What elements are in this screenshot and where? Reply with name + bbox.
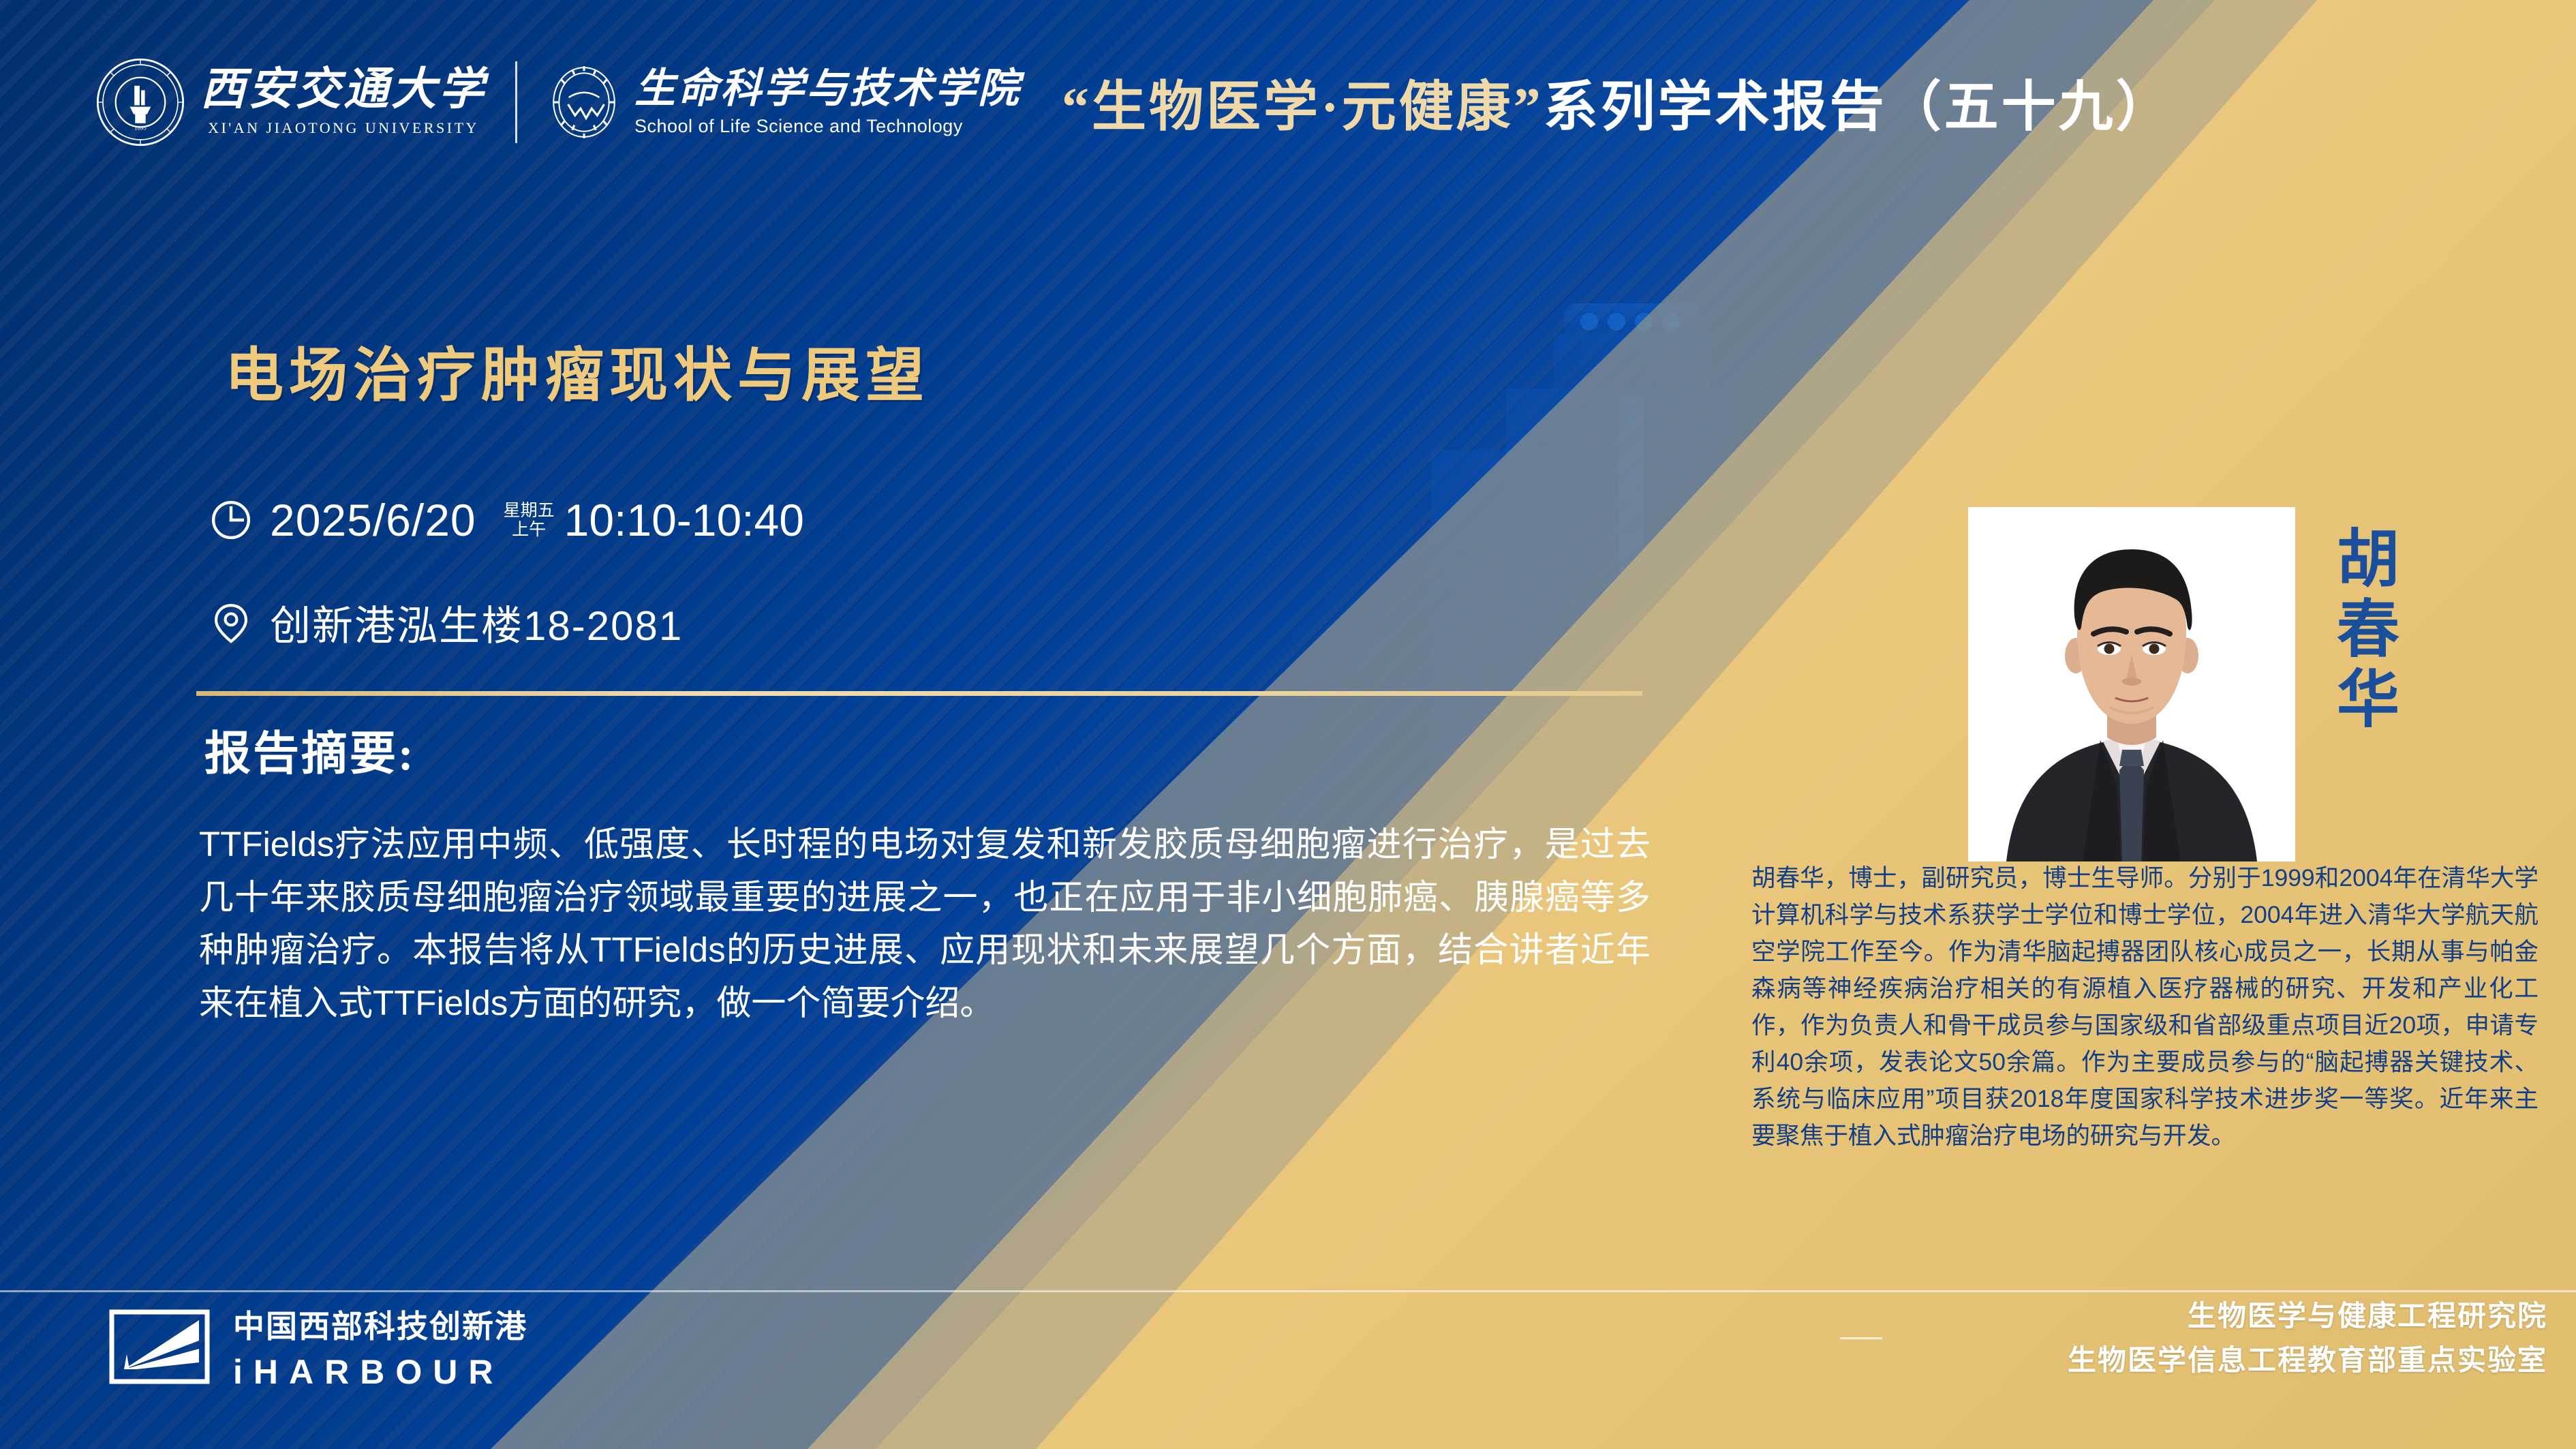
clock-icon	[210, 499, 252, 541]
series-title-white: 系列学术报告（五十九）	[1544, 78, 2173, 138]
xjtu-seal-icon: 1895	[95, 57, 185, 147]
speaker-bio: 胡春华，博士，副研究员，博士生导师。分别于1999和2004年在清华大学计算机科…	[1751, 860, 2539, 1155]
logo-divider	[515, 61, 517, 143]
talk-weekday: 星期五	[504, 501, 555, 520]
gold-divider-rule	[196, 691, 1642, 696]
poster-header: 1895 西安交通大学 XI'AN JIAOTONG UNIVERSITY	[0, 0, 2576, 204]
talk-time-row: 2025/6/20 星期五 上午 10:10-10:40	[210, 494, 804, 546]
speaker-portrait-image	[1980, 513, 2283, 861]
abstract-body: TTFields疗法应用中频、低强度、长时程的电场对复发和新发胶质母细胞瘤进行治…	[199, 818, 1651, 1029]
iharbour-mark-icon	[109, 1309, 210, 1384]
talk-location-row: 创新港泓生楼18-2081	[210, 593, 683, 652]
iharbour-name-cn: 中国西部科技创新港	[233, 1302, 527, 1347]
location-pin-icon	[210, 602, 252, 644]
abstract-heading: 报告摘要:	[204, 716, 416, 783]
school-name-block: 生命科学与技术学院 School of Life Science and Tec…	[634, 68, 1021, 137]
organizer-line-1: 生物医学与健康工程研究院	[2068, 1295, 2547, 1339]
school-seal-icon	[546, 64, 622, 140]
organizer-line-2: 生物医学信息工程教育部重点实验室	[2068, 1339, 2547, 1384]
talk-time: 10:10-10:40	[564, 494, 804, 546]
talk-date: 2025/6/20	[270, 494, 476, 546]
university-name-en: XI'AN JIAOTONG UNIVERSITY	[208, 119, 479, 137]
series-title-gold: “生物医学·元健康”	[1062, 78, 1544, 138]
university-name-cn: 西安交通大学	[200, 67, 487, 112]
speaker-name: 胡春华	[2331, 525, 2406, 735]
talk-weekday-block: 星期五 上午	[504, 501, 555, 539]
talk-title: 电场治疗肿瘤现状与展望	[225, 327, 930, 412]
footer-divider-line	[0, 1290, 2576, 1292]
talk-location: 创新港泓生楼18-2081	[270, 593, 683, 652]
seminar-poster: 1895 西安交通大学 XI'AN JIAOTONG UNIVERSITY	[0, 0, 2576, 1449]
speaker-photo-frame	[1968, 507, 2295, 861]
series-title: “生物医学·元健康”系列学术报告（五十九）	[1062, 63, 2173, 142]
org-dash-rule	[1840, 1337, 1882, 1339]
svg-text:1895: 1895	[134, 125, 147, 132]
university-logo-lockup: 1895 西安交通大学 XI'AN JIAOTONG UNIVERSITY	[95, 41, 1021, 164]
iharbour-logo-lockup: 中国西部科技创新港 iHARBOUR	[109, 1302, 527, 1392]
iharbour-text-block: 中国西部科技创新港 iHARBOUR	[233, 1302, 527, 1392]
school-name-cn: 生命科学与技术学院	[634, 68, 1021, 109]
talk-ampm: 上午	[504, 520, 555, 539]
school-name-en: School of Life Science and Technology	[634, 116, 1021, 137]
university-name-block: 西安交通大学 XI'AN JIAOTONG UNIVERSITY	[200, 67, 487, 137]
iharbour-name-en: iHARBOUR	[233, 1352, 527, 1392]
organizer-block: 生物医学与健康工程研究院 生物医学信息工程教育部重点实验室	[2068, 1295, 2547, 1384]
speaker-portrait	[1980, 513, 2283, 861]
